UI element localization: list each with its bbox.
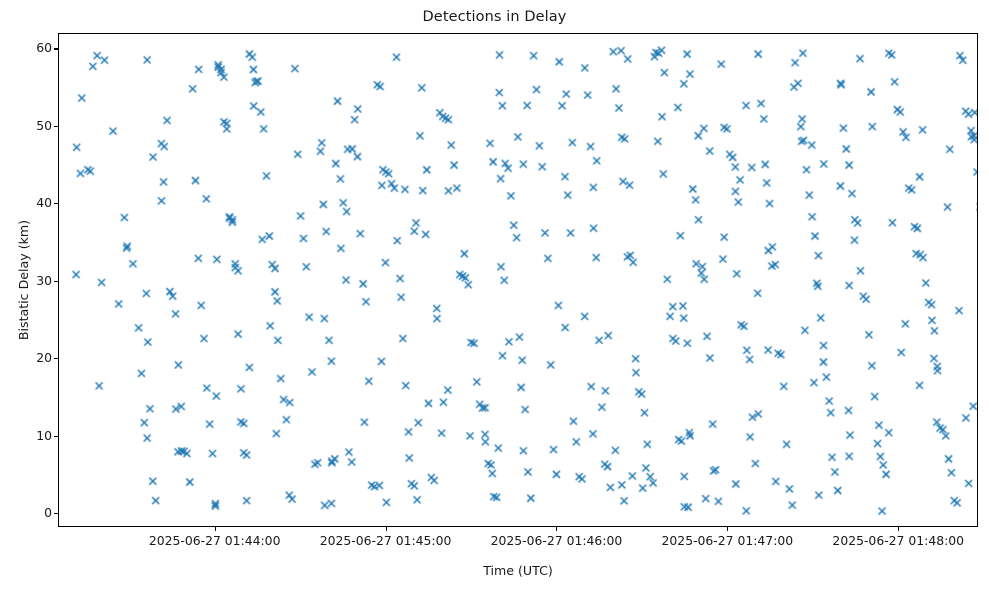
x-tick-label: 2025-06-27 01:45:00: [320, 533, 452, 548]
y-tick-label: 60: [0, 41, 52, 55]
y-tick-label: 40: [0, 196, 52, 210]
x-tick-mark: [215, 527, 216, 531]
y-tick-label: 10: [0, 429, 52, 443]
x-tick-label: 2025-06-27 01:46:00: [491, 533, 623, 548]
x-tick-label: 2025-06-27 01:44:00: [149, 533, 281, 548]
y-tick-label: 20: [0, 351, 52, 365]
y-tick-label: 30: [0, 274, 52, 288]
x-tick-label: 2025-06-27 01:48:00: [832, 533, 964, 548]
x-tick-label: 2025-06-27 01:47:00: [662, 533, 794, 548]
x-axis-label: Time (UTC): [58, 563, 978, 578]
x-tick-mark: [556, 527, 557, 531]
y-tick-label: 50: [0, 119, 52, 133]
page-title: Detections in Delay: [0, 9, 989, 25]
x-tick-mark: [727, 527, 728, 531]
matplotlib-figure: Detections in Delay Bistatic Delay (km) …: [0, 0, 989, 590]
x-tick-mark: [898, 527, 899, 531]
y-tick-label: 0: [0, 506, 52, 520]
scatter-plot-area: [58, 33, 978, 527]
x-tick-mark: [386, 527, 387, 531]
scatter-points-layer: [59, 34, 977, 526]
